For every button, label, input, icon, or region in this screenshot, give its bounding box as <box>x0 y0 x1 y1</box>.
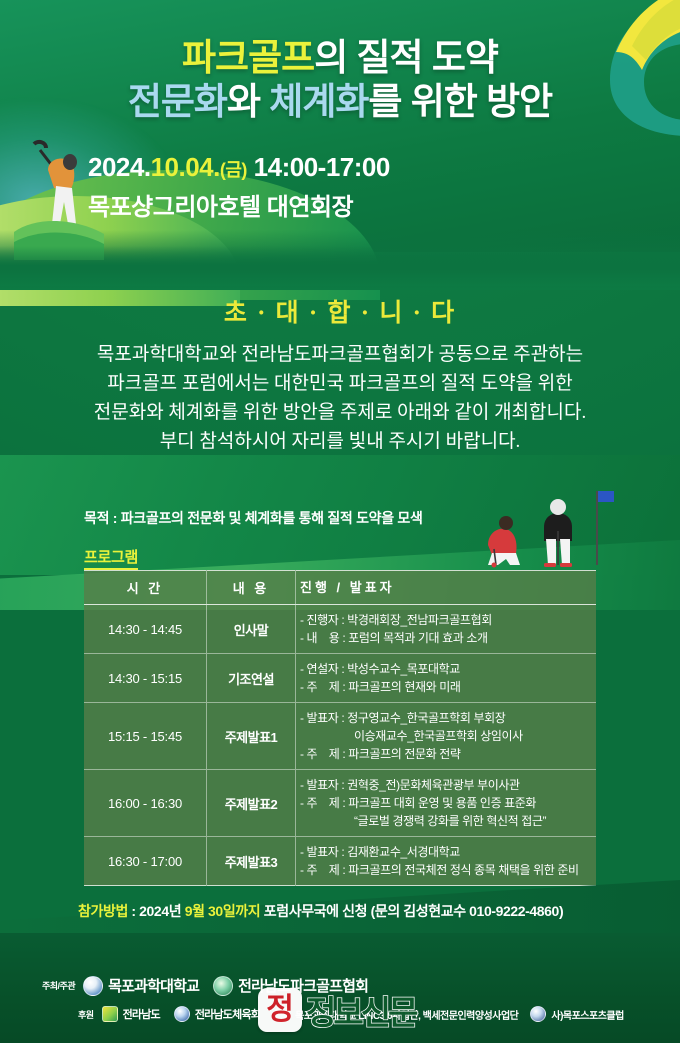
speaker-line: - 주 제 : 파크골프의 전문화 전략 <box>300 745 592 763</box>
speaker-line: - 주 제 : 파크골프의 현재와 미래 <box>300 678 592 696</box>
row-speaker: - 진행자 : 박경래회장_전남파크골프협회 - 내 용 : 포럼의 목적과 기… <box>296 605 597 654</box>
invitation-line: 파크골프 포럼에서는 대한민국 파크골프의 질적 도약을 위한 <box>60 369 620 398</box>
table-header-speaker: 진행 / 발표자 <box>296 571 597 605</box>
title-line-1: 파크골프의 질적 도약 <box>0 36 680 80</box>
row-time: 16:30 - 17:00 <box>84 837 207 886</box>
mokpo-sports-club-logo-icon <box>530 1006 546 1022</box>
footer-host-label: 주최/주관 <box>42 979 75 992</box>
program-table: 시 간 내 용 진행 / 발표자 14:30 - 14:45 인사말 - 진행자… <box>84 570 596 886</box>
title-keyword-systemization: 체계화 <box>269 81 368 122</box>
footer-org-name: 목포과학대학교 <box>108 975 199 996</box>
event-date: 10.04. <box>151 152 220 182</box>
footer-org-sports-council: 전라남도체육회 <box>174 1006 260 1022</box>
poster-title: 파크골프의 질적 도약 전문화와 체계화를 위한 방안 <box>0 36 680 124</box>
title-line-2: 전문화와 체계화를 위한 방안 <box>0 80 680 124</box>
table-row: 14:30 - 14:45 인사말 - 진행자 : 박경래회장_전남파크골프협회… <box>84 605 596 654</box>
poster-root: 파크골프의 질적 도약 전문화와 체계화를 위한 방안 2024.10.04.(… <box>0 0 680 1043</box>
application-text-a: : 2024년 <box>128 903 185 919</box>
speaker-line: - 주 제 : 파크골프 대회 운영 및 용품 인증 표준화 <box>300 794 592 812</box>
row-topic: 인사말 <box>207 605 296 654</box>
row-speaker: - 발표자 : 정구영교수_한국골프학회 부회장 이승재교수_한국골프학회 상임… <box>296 703 597 770</box>
table-row: 15:15 - 15:45 주제발표1 - 발표자 : 정구영교수_한국골프학회… <box>84 703 596 770</box>
footer-org-mnu: 목포과학대학교 <box>83 975 199 996</box>
table-row: 16:00 - 16:30 주제발표2 - 발표자 : 권혁중_전)문화체육관광… <box>84 770 596 837</box>
program-label: 프로그램 <box>84 546 138 570</box>
invitation-line: 전문화와 체계화를 위한 방안을 주제로 아래와 같이 개최합니다. <box>60 398 620 427</box>
row-topic: 주제발표1 <box>207 703 296 770</box>
footer-sponsor-last: 사)목포스포츠클럽 <box>551 1007 623 1022</box>
golfers-putting-illustration <box>470 483 630 575</box>
row-speaker: - 발표자 : 김재환교수_서경대학교 - 주 제 : 파크골프의 전국체전 정… <box>296 837 597 886</box>
table-row: 14:30 - 15:15 기조연설 - 연설자 : 박성수교수_목포대학교 -… <box>84 654 596 703</box>
row-time: 14:30 - 14:45 <box>84 605 207 654</box>
watermark-text: 정보신문 <box>306 986 415 1034</box>
table-row: 16:30 - 17:00 주제발표3 - 발표자 : 김재환교수_서경대학교 … <box>84 837 596 886</box>
application-text-b: 포럼사무국에 신청 (문의 김성현교수 010-9222-4860) <box>260 903 563 919</box>
table-header-topic: 내 용 <box>207 571 296 605</box>
footer-org-name: 전라남도 <box>123 1006 160 1022</box>
jeonnam-parkgolf-association-logo-icon <box>213 976 233 996</box>
speaker-line-indented: “글로벌 경쟁력 강화를 위한 혁신적 접근” <box>300 812 592 830</box>
speaker-line: - 발표자 : 권혁중_전)문화체육관광부 부이사관 <box>300 776 592 794</box>
speaker-line: - 진행자 : 박경래회장_전남파크골프협회 <box>300 611 592 629</box>
title-phrase-leap: 질적 도약 <box>357 37 498 78</box>
invitation-body: 목포과학대학교와 전라남도파크골프협회가 공동으로 주관하는 파크골프 포럼에서… <box>60 340 620 456</box>
speaker-line: - 연설자 : 박성수교수_목포대학교 <box>300 660 592 678</box>
row-topic: 기조연설 <box>207 654 296 703</box>
row-topic: 주제발표3 <box>207 837 296 886</box>
watermark-badge-icon: 정 <box>258 988 302 1032</box>
event-venue: 목포샹그리아호텔 대연회장 <box>88 187 648 222</box>
row-time: 14:30 - 15:15 <box>84 654 207 703</box>
invitation-line: 부디 참석하시어 자리를 빛내 주시기 바랍니다. <box>60 427 620 456</box>
watermark: 정 정보신문 <box>258 986 415 1034</box>
jeollanamdo-sports-council-logo-icon <box>174 1006 190 1022</box>
speaker-line: - 발표자 : 김재환교수_서경대학교 <box>300 843 592 861</box>
row-speaker: - 발표자 : 권혁중_전)문화체육관광부 부이사관 - 주 제 : 파크골프 … <box>296 770 597 837</box>
watermark-mark: 정 <box>266 995 294 1025</box>
speaker-line: - 주 제 : 파크골프의 전국체전 정식 종목 채택을 위한 준비 <box>300 861 592 879</box>
title-phrase-plan: 를 위한 방안 <box>368 81 552 122</box>
footer-sponsor-label: 후원 <box>78 1008 94 1021</box>
row-time: 15:15 - 15:45 <box>84 703 207 770</box>
row-speaker: - 연설자 : 박성수교수_목포대학교 - 주 제 : 파크골프의 현재와 미래 <box>296 654 597 703</box>
event-year: 2024. <box>88 152 151 182</box>
row-topic: 주제발표2 <box>207 770 296 837</box>
application-info: 참가방법 : 2024년 9월 30일까지 포럼사무국에 신청 (문의 김성현교… <box>78 901 563 921</box>
mokpo-science-university-logo-icon <box>83 976 103 996</box>
jeollanamdo-logo-icon <box>102 1006 118 1022</box>
hero-lower-fade <box>0 246 680 286</box>
title-particle-1: 의 <box>314 37 347 78</box>
title-keyword-parkgolf: 파크골프 <box>182 37 314 78</box>
title-keyword-specialization: 전문화 <box>128 81 227 122</box>
purpose-text: 목적 : 파크골프의 전문화 및 체계화를 통해 질적 도약을 모색 <box>84 508 423 528</box>
event-time: 14:00-17:00 <box>254 152 390 182</box>
invitation-line: 목포과학대학교와 전라남도파크골프협회가 공동으로 주관하는 <box>60 340 620 369</box>
title-particle-2: 와 <box>227 81 260 122</box>
table-header-time: 시 간 <box>84 571 207 605</box>
invitation-heading: 초 · 대 · 합 · 니 · 다 <box>0 293 680 329</box>
speaker-line: - 내 용 : 포럼의 목적과 기대 효과 소개 <box>300 629 592 647</box>
table-body: 14:30 - 14:45 인사말 - 진행자 : 박경래회장_전남파크골프협회… <box>84 605 596 886</box>
footer-org-jeonnam: 전라남도 <box>102 1006 160 1022</box>
row-time: 16:00 - 16:30 <box>84 770 207 837</box>
footer-org-name: 전라남도체육회 <box>195 1006 260 1022</box>
speaker-line-indented: 이승재교수_한국골프학회 상임이사 <box>300 727 592 745</box>
application-deadline: 9월 30일까지 <box>185 903 261 919</box>
table-header-row: 시 간 내 용 진행 / 발표자 <box>84 571 596 605</box>
event-weekday: (금) <box>220 160 247 180</box>
speaker-line: - 발표자 : 정구영교수_한국골프학회 부회장 <box>300 709 592 727</box>
event-date-line: 2024.10.04.(금) 14:00-17:00 <box>88 152 648 183</box>
event-datetime-block: 2024.10.04.(금) 14:00-17:00 목포샹그리아호텔 대연회장 <box>88 152 648 222</box>
application-label: 참가방법 <box>78 903 128 919</box>
